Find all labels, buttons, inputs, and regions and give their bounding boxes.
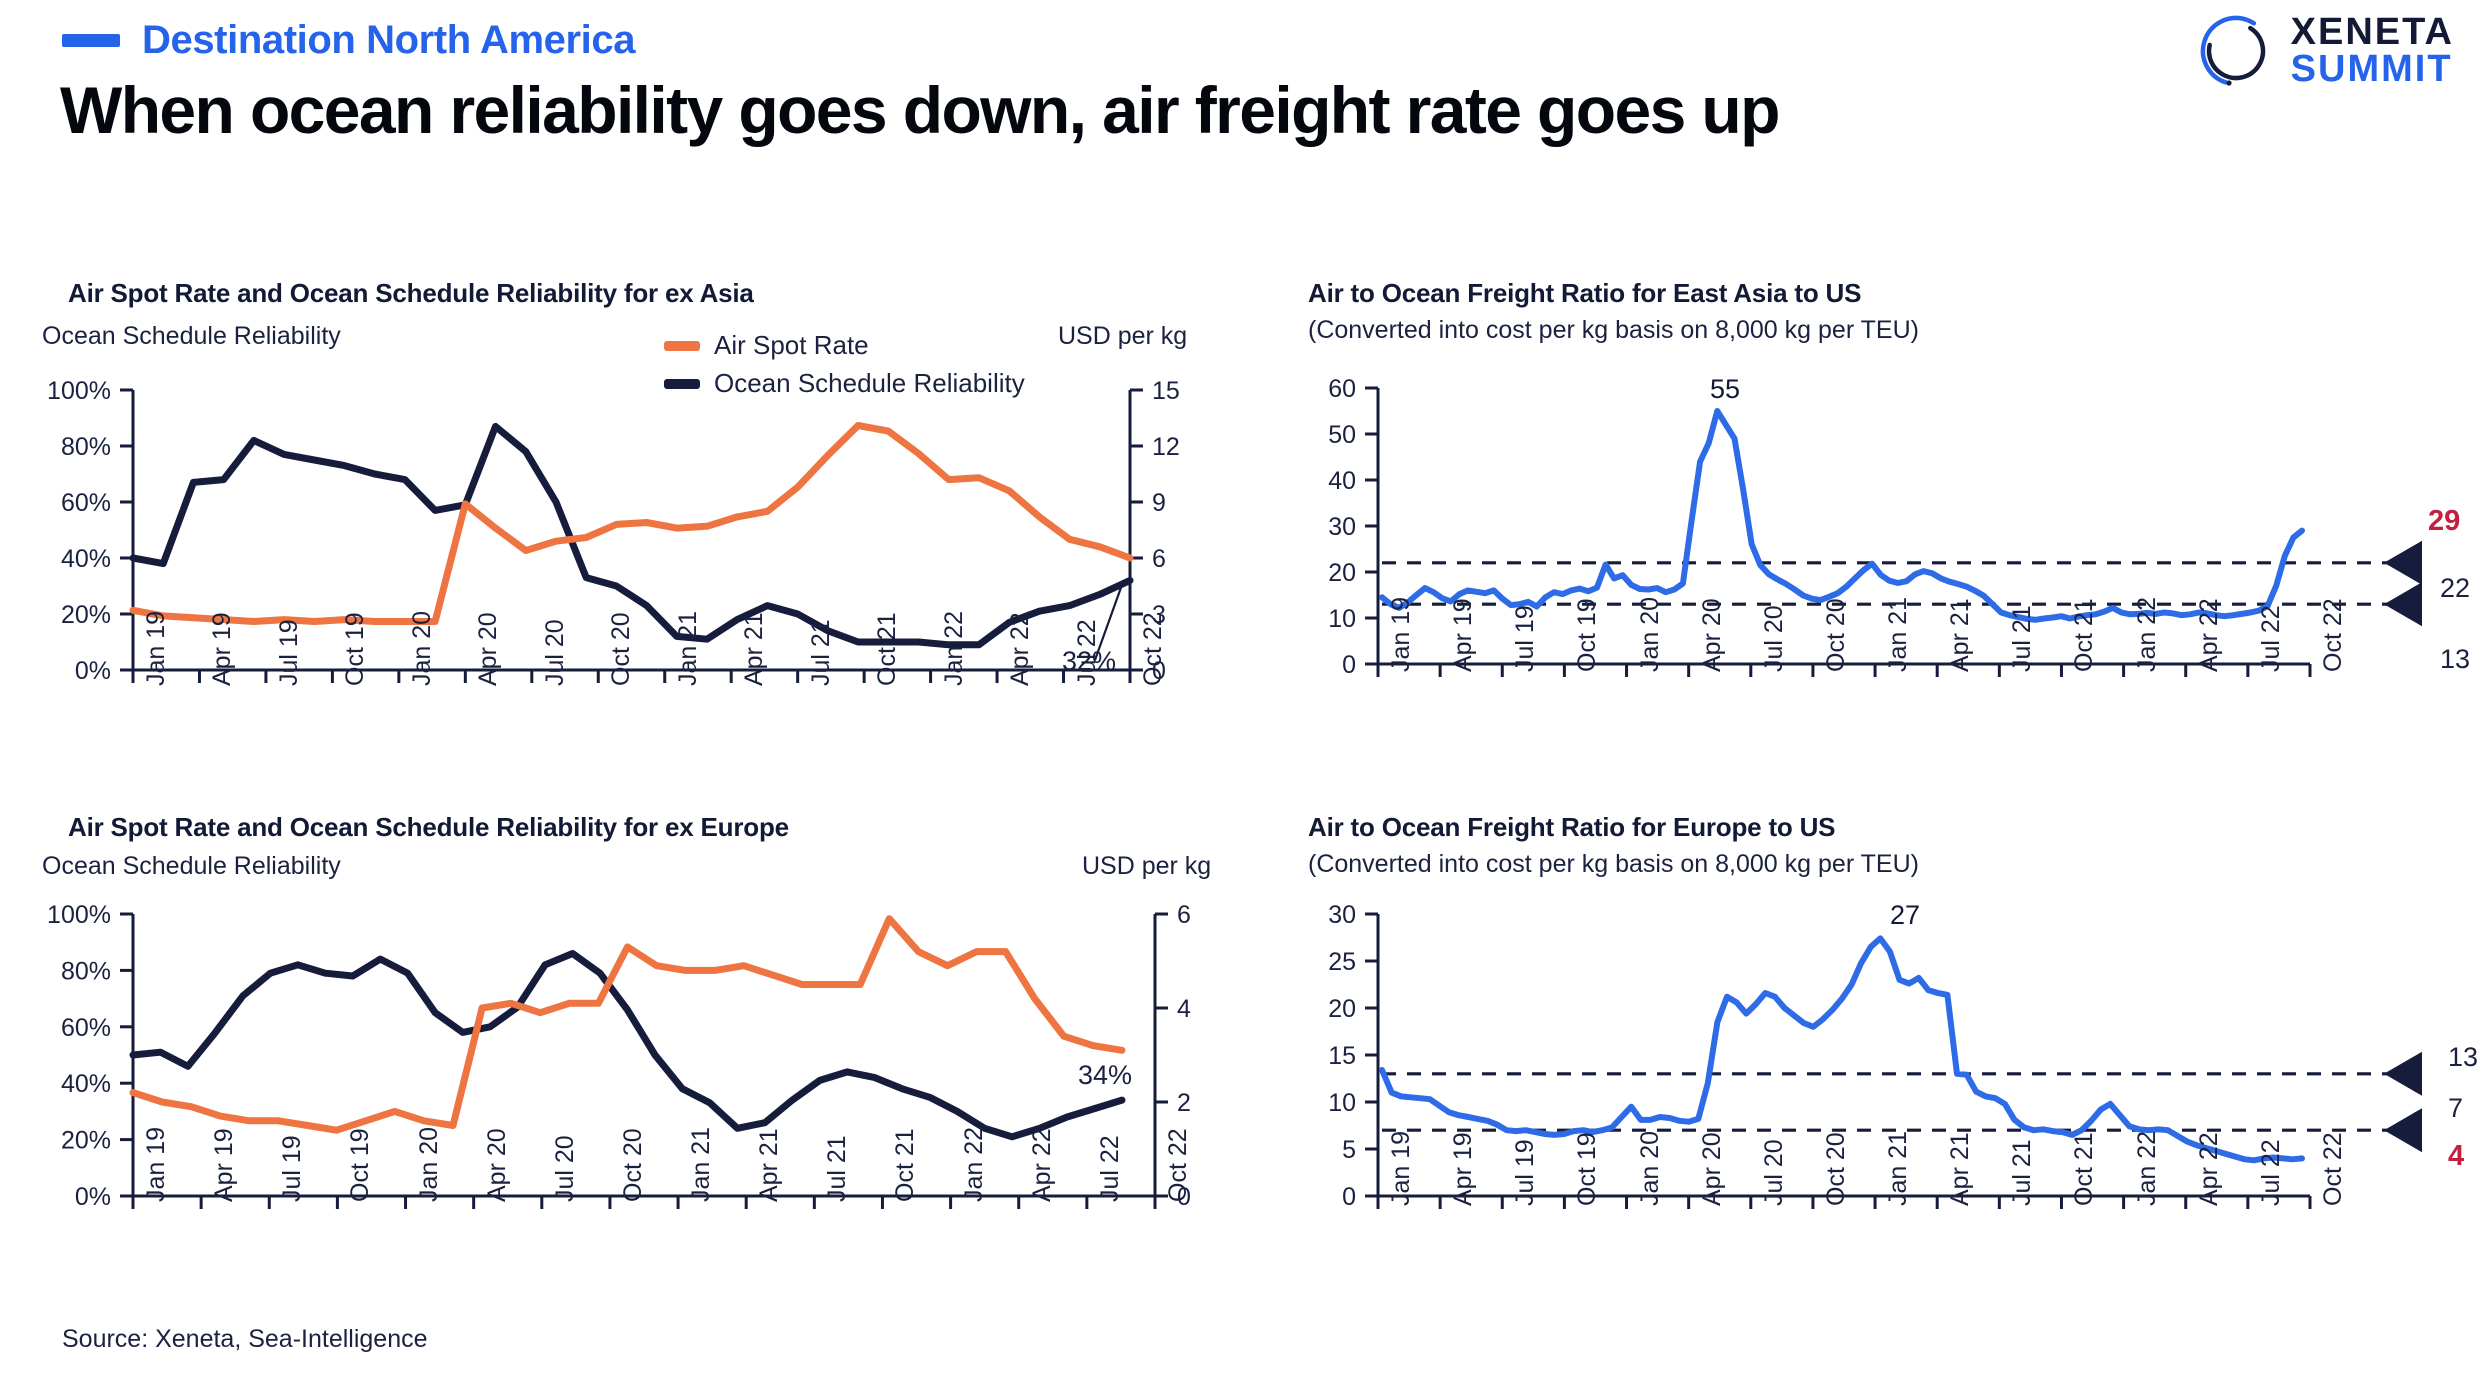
svg-text:2: 2: [1177, 1089, 1191, 1117]
chart-subtitle-ratio-east-asia: (Converted into cost per kg basis on 8,0…: [1308, 316, 1919, 345]
x-axis-tick-label: Jul 19: [1511, 605, 1540, 672]
svg-text:9: 9: [1152, 489, 1166, 517]
chart-subtitle-ratio-europe: (Converted into cost per kg basis on 8,0…: [1308, 850, 1919, 879]
x-axis-tick-label: Jan 20: [1636, 1131, 1665, 1206]
x-axis-tick-label: Oct 20: [607, 612, 636, 686]
page-title: When ocean reliability goes down, air fr…: [60, 72, 1779, 148]
svg-text:6: 6: [1152, 545, 1166, 573]
reference-label-22: 22: [2440, 573, 2470, 604]
x-axis-tick-label: Jan 19: [142, 611, 171, 686]
x-axis-tick-label: Oct 21: [873, 612, 902, 686]
svg-text:0: 0: [1342, 651, 1356, 679]
x-axis-tick-label: Apr 21: [740, 612, 769, 686]
x-axis-tick-label: Jul 20: [1760, 1139, 1789, 1206]
svg-text:50: 50: [1328, 421, 1356, 449]
x-axis-tick-label: Jul 21: [807, 619, 836, 686]
x-axis-tick-label: Jan 22: [940, 611, 969, 686]
x-axis-tick-label: Oct 22: [1139, 612, 1168, 686]
kicker-label: Destination North America: [142, 18, 635, 63]
x-axis-tick-label: Apr 20: [483, 1128, 512, 1202]
svg-text:40: 40: [1328, 467, 1356, 495]
x-axis-tick-label: Apr 19: [1449, 1132, 1478, 1206]
x-axis-tick-label: Oct 19: [341, 612, 370, 686]
x-axis-tick-label: Oct 21: [2070, 598, 2099, 672]
svg-text:0%: 0%: [75, 1183, 111, 1211]
x-axis-tick-label: Jul 21: [2008, 1139, 2037, 1206]
x-axis-tick-label: Jan 22: [2133, 1131, 2162, 1206]
x-axis-tick-label: Apr 19: [210, 1128, 239, 1202]
x-axis-tick-label: Jul 21: [2008, 605, 2037, 672]
x-axis-tick-label: Oct 20: [619, 1128, 648, 1202]
x-axis-tick-label: Apr 22: [2195, 598, 2224, 672]
svg-text:30: 30: [1328, 901, 1356, 929]
svg-text:10: 10: [1328, 1089, 1356, 1117]
svg-text:100%: 100%: [47, 901, 111, 929]
x-axis-tick-label: Jan 21: [1884, 597, 1913, 672]
svg-text:40%: 40%: [61, 1070, 111, 1098]
svg-text:12: 12: [1152, 433, 1180, 461]
svg-text:20%: 20%: [61, 601, 111, 629]
x-axis-tick-label: Jan 21: [1884, 1131, 1913, 1206]
x-axis-tick-label: Oct 19: [346, 1128, 375, 1202]
x-axis-tick-label: Jul 22: [2257, 1139, 2286, 1206]
x-axis-tick-label: Jan 20: [1636, 597, 1665, 672]
svg-text:30: 30: [1328, 513, 1356, 541]
logo-word-summit: SUMMIT: [2291, 51, 2454, 88]
svg-text:20: 20: [1328, 559, 1356, 587]
reference-arrow-icon: [2384, 541, 2422, 585]
left-axis-title-ex-europe: Ocean Schedule Reliability: [42, 852, 341, 881]
x-axis-tick-label: Jul 22: [1073, 619, 1102, 686]
x-axis-tick-label: Jul 20: [1760, 605, 1789, 672]
right-axis-title-ex-asia: USD per kg: [1058, 322, 1187, 351]
x-axis-tick-label: Jan 20: [408, 611, 437, 686]
reference-label-7-eu: 7: [2448, 1093, 2463, 1124]
annotation-ex-europe: 34%: [1078, 1060, 1132, 1091]
source-note: Source: Xeneta, Sea-Intelligence: [62, 1325, 428, 1354]
svg-text:6: 6: [1177, 901, 1191, 929]
x-axis-tick-label: Apr 22: [1028, 1128, 1057, 1202]
x-axis-tick-label: Oct 21: [2070, 1132, 2099, 1206]
x-axis-tick-label: Apr 20: [474, 612, 503, 686]
svg-text:0%: 0%: [75, 657, 111, 685]
chart-title-ex-asia: Air Spot Rate and Ocean Schedule Reliabi…: [68, 278, 754, 309]
reference-label-13: 13: [2440, 644, 2470, 675]
svg-text:40%: 40%: [61, 545, 111, 573]
end-label-ratio-east-asia: 29: [2428, 505, 2460, 538]
x-axis-tick-label: Apr 19: [208, 612, 237, 686]
logo-word-xeneta: XENETA: [2291, 14, 2454, 51]
peak-label-ratio-east-asia: 55: [1710, 374, 1740, 405]
svg-text:60%: 60%: [61, 489, 111, 517]
chart-title-ratio-east-asia: Air to Ocean Freight Ratio for East Asia…: [1308, 278, 1861, 309]
svg-text:10: 10: [1328, 605, 1356, 633]
x-axis-tick-label: Oct 22: [1164, 1128, 1193, 1202]
xeneta-summit-logo: XENETA SUMMIT: [2199, 14, 2454, 88]
reference-label-13-eu: 13: [2448, 1042, 2478, 1073]
chart-title-ex-europe: Air Spot Rate and Ocean Schedule Reliabi…: [68, 812, 789, 843]
svg-text:15: 15: [1328, 1042, 1356, 1070]
x-axis-tick-label: Jan 19: [1387, 1131, 1416, 1206]
svg-text:80%: 80%: [61, 433, 111, 461]
x-axis-tick-label: Jan 20: [415, 1127, 444, 1202]
x-axis-tick-label: Apr 21: [755, 1128, 784, 1202]
x-axis-tick-label: Apr 21: [1946, 1132, 1975, 1206]
x-axis-tick-label: Jul 21: [823, 1135, 852, 1202]
svg-text:0: 0: [1342, 1183, 1356, 1211]
x-axis-tick-label: Jul 19: [1511, 1139, 1540, 1206]
svg-text:60: 60: [1328, 375, 1356, 403]
x-axis-tick-label: Jan 22: [960, 1127, 989, 1202]
right-axis-title-ex-europe: USD per kg: [1082, 852, 1211, 881]
x-axis-tick-label: Apr 20: [1698, 598, 1727, 672]
x-axis-tick-label: Oct 19: [1573, 598, 1602, 672]
x-axis-tick-label: Oct 22: [2319, 1132, 2348, 1206]
kicker-dash-icon: [62, 34, 120, 47]
svg-text:25: 25: [1328, 948, 1356, 976]
svg-text:15: 15: [1152, 377, 1180, 405]
x-axis-tick-label: Jul 20: [551, 1135, 580, 1202]
x-axis-tick-label: Apr 22: [2195, 1132, 2224, 1206]
ring-icon: [2199, 14, 2273, 88]
plot-ex-asia: 0%20%40%60%80%100% 03691215: [60, 370, 1240, 690]
kicker: Destination North America: [62, 18, 635, 63]
legend-item-air-spot-rate: Air Spot Rate: [664, 330, 1025, 361]
x-axis-tick-label: Oct 20: [1822, 1132, 1851, 1206]
x-axis-tick-label: Oct 19: [1573, 1132, 1602, 1206]
x-axis-tick-label: Jan 19: [1387, 597, 1416, 672]
x-axis-tick-label: Oct 21: [891, 1128, 920, 1202]
svg-text:20%: 20%: [61, 1127, 111, 1155]
svg-text:5: 5: [1342, 1136, 1356, 1164]
x-axis-tick-label: Jul 22: [2257, 605, 2286, 672]
svg-text:80%: 80%: [61, 957, 111, 985]
x-axis-tick-label: Oct 20: [1822, 598, 1851, 672]
x-axis-tick-label: Jul 19: [275, 619, 304, 686]
x-axis-tick-label: Jul 19: [278, 1135, 307, 1202]
chart-title-ratio-europe: Air to Ocean Freight Ratio for Europe to…: [1308, 812, 1835, 843]
svg-text:20: 20: [1328, 995, 1356, 1023]
legend-swatch-orange: [664, 341, 700, 351]
x-axis-tick-label: Apr 21: [1946, 598, 1975, 672]
x-axis-tick-label: Jan 22: [2133, 597, 2162, 672]
x-axis-tick-label: Apr 19: [1449, 598, 1478, 672]
svg-text:60%: 60%: [61, 1014, 111, 1042]
reference-arrow-icon: [2384, 582, 2422, 626]
reference-arrow-icon: [2384, 1052, 2422, 1096]
x-axis-tick-label: Jan 19: [142, 1127, 171, 1202]
x-axis-tick-label: Jul 22: [1096, 1135, 1125, 1202]
left-axis-title-ex-asia: Ocean Schedule Reliability: [42, 322, 341, 351]
x-axis-tick-label: Jan 21: [687, 1127, 716, 1202]
x-axis-tick-label: Apr 22: [1006, 612, 1035, 686]
reference-arrow-icon: [2384, 1108, 2422, 1152]
peak-label-ratio-europe: 27: [1890, 900, 1920, 931]
x-axis-tick-label: Jan 21: [674, 611, 703, 686]
x-axis-tick-label: Jul 20: [541, 619, 570, 686]
svg-text:100%: 100%: [47, 377, 111, 405]
x-axis-tick-label: Apr 20: [1698, 1132, 1727, 1206]
end-label-ratio-europe: 4: [2448, 1140, 2464, 1173]
x-axis-tick-label: Oct 22: [2319, 598, 2348, 672]
legend-label-air-spot-rate: Air Spot Rate: [714, 330, 869, 361]
svg-text:4: 4: [1177, 995, 1191, 1023]
